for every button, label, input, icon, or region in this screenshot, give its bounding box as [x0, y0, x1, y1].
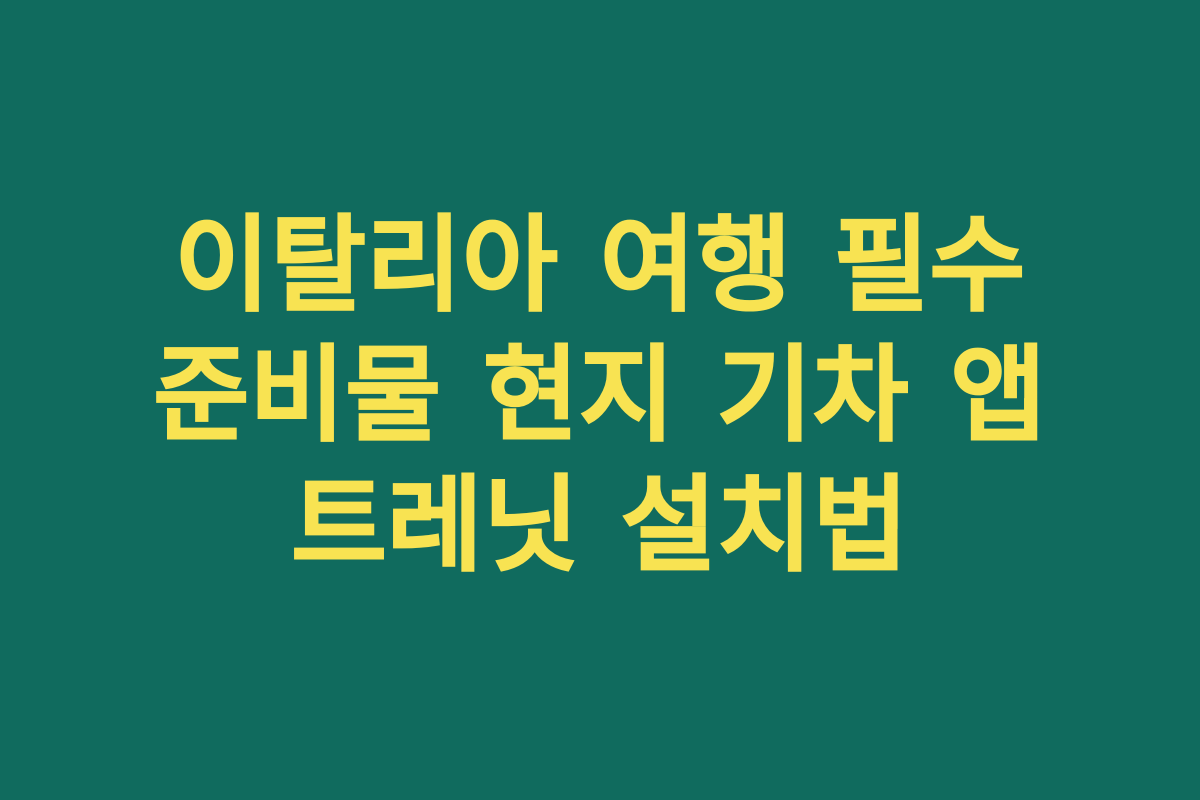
thumbnail-canvas: 이탈리아 여행 필수 준비물 현지 기차 앱 트레닛 설치법 — [0, 0, 1200, 800]
page-title: 이탈리아 여행 필수 준비물 현지 기차 앱 트레닛 설치법 — [68, 201, 1132, 592]
headline-block: 이탈리아 여행 필수 준비물 현지 기차 앱 트레닛 설치법 — [68, 201, 1132, 592]
